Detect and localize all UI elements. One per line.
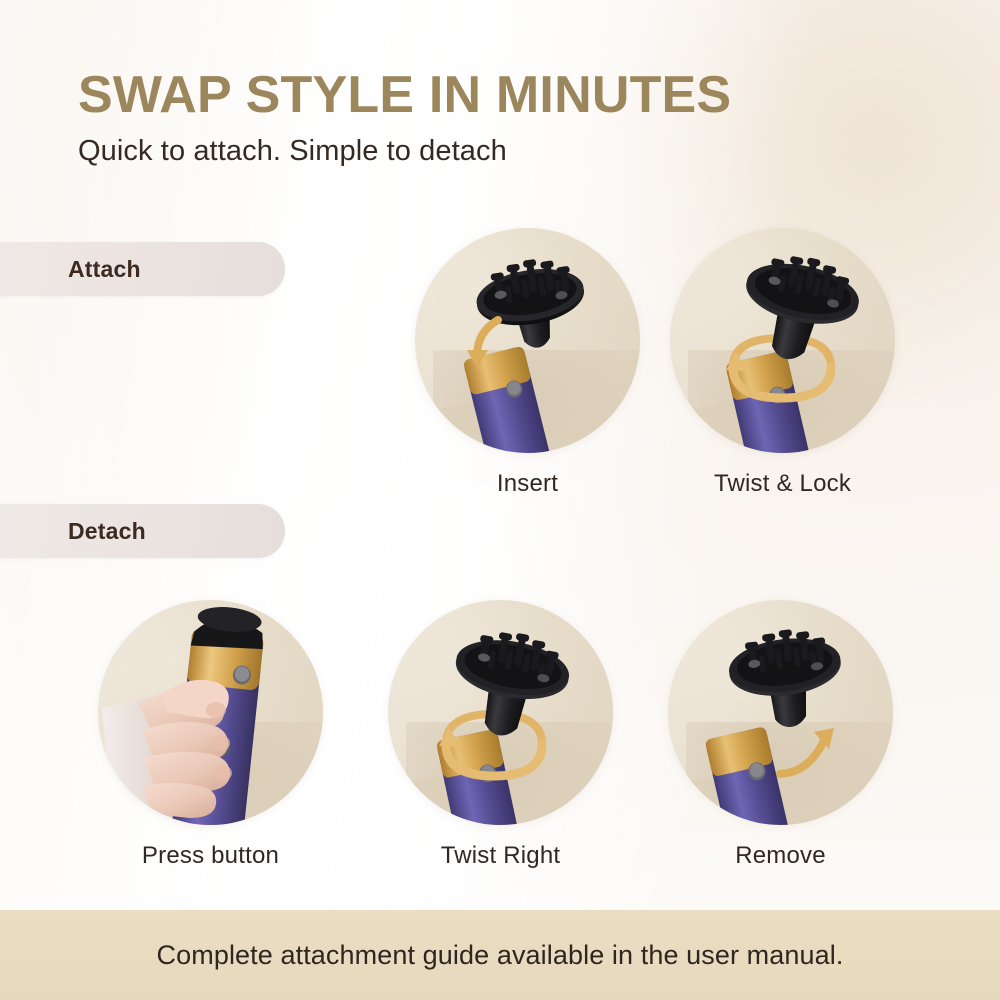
step-tile-remove: Remove bbox=[668, 600, 893, 870]
section-pill-attach: Attach bbox=[0, 242, 285, 296]
step-image-press-button bbox=[98, 600, 323, 825]
step-caption-press-button: Press button bbox=[98, 842, 323, 870]
diffuser-attached-rotation-ring-icon bbox=[670, 228, 895, 453]
step-image-twist-right bbox=[388, 600, 613, 825]
step-image-remove bbox=[668, 600, 893, 825]
page-subtitle: Quick to attach. Simple to detach bbox=[78, 134, 938, 168]
step-tile-twist-right: Twist Right bbox=[388, 600, 613, 870]
section-pill-attach-label: Attach bbox=[68, 256, 141, 283]
step-image-twist-lock bbox=[670, 228, 895, 453]
diffuser-attached-rotation-ring-icon bbox=[388, 600, 613, 825]
step-tile-twist-lock: Twist & Lock bbox=[670, 228, 895, 498]
step-caption-twist-lock: Twist & Lock bbox=[670, 470, 895, 498]
section-pill-detach: Detach bbox=[0, 504, 285, 558]
page-title: SWAP STYLE IN MINUTES bbox=[78, 66, 938, 124]
infographic-canvas: SWAP STYLE IN MINUTES Quick to attach. S… bbox=[0, 0, 1000, 1000]
diffuser-detached-up-arrow-icon bbox=[668, 600, 893, 825]
diffuser-detached-down-arrow-icon bbox=[415, 228, 640, 453]
step-caption-remove: Remove bbox=[668, 842, 893, 870]
footer-banner: Complete attachment guide available in t… bbox=[0, 910, 1000, 1000]
step-tile-insert: Insert bbox=[415, 228, 640, 498]
footer-text: Complete attachment guide available in t… bbox=[157, 940, 844, 971]
step-caption-insert: Insert bbox=[415, 470, 640, 498]
hand-pressing-release-button-icon bbox=[98, 600, 323, 825]
step-caption-twist-right: Twist Right bbox=[388, 842, 613, 870]
step-image-insert bbox=[415, 228, 640, 453]
header: SWAP STYLE IN MINUTES Quick to attach. S… bbox=[78, 66, 938, 168]
section-pill-detach-label: Detach bbox=[68, 518, 146, 545]
step-tile-press-button: Press button bbox=[98, 600, 323, 870]
